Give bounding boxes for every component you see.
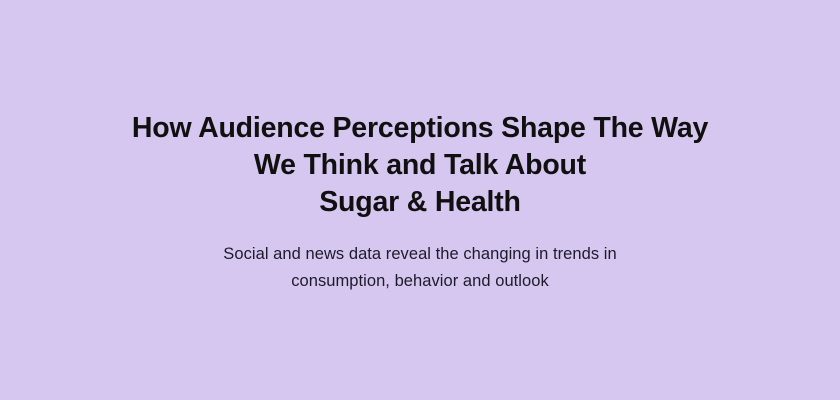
subtitle-line-1: Social and news data reveal the changing… [0,241,840,268]
page-title: How Audience Perceptions Shape The Way W… [0,110,840,221]
title-line-2: We Think and Talk About [0,147,840,184]
title-line-1: How Audience Perceptions Shape The Way [0,110,840,147]
title-slide: How Audience Perceptions Shape The Way W… [0,0,840,400]
subtitle-line-2: consumption, behavior and outlook [0,268,840,295]
title-line-3: Sugar & Health [0,184,840,221]
page-subtitle: Social and news data reveal the changing… [0,241,840,295]
